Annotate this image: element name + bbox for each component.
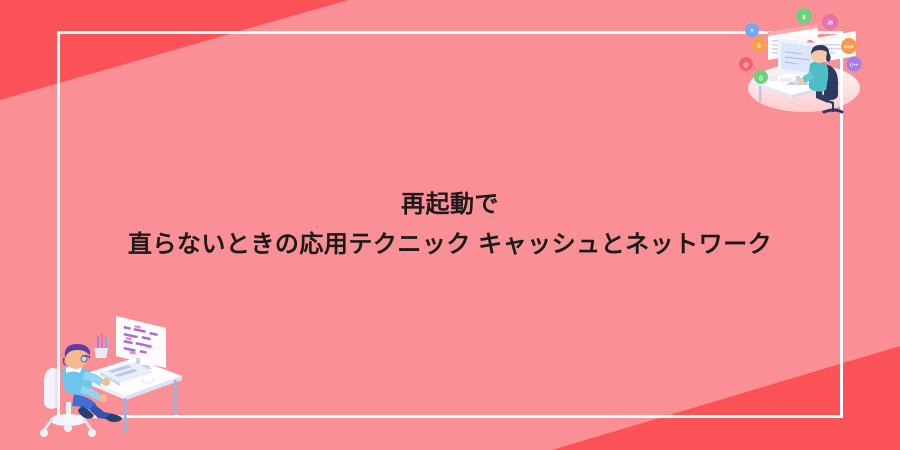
badge-paren: () — [754, 70, 768, 84]
developer-at-desk-with-code-badges-illustration: # S @ () $ JS PHP C++ — [732, 2, 872, 118]
svg-text:PHP: PHP — [844, 44, 853, 49]
svg-text:(): () — [759, 75, 763, 81]
code-monitor — [116, 316, 166, 369]
developer-at-desk-with-code-monitor-illustration — [38, 302, 188, 442]
badge-js: JS — [822, 14, 838, 30]
thumbnail-canvas: 再起動で 直らないときの応用テクニック キャッシュとネットワーク — [0, 0, 900, 450]
svg-text:$: $ — [802, 15, 805, 21]
svg-text:S: S — [757, 44, 761, 50]
pencil-cup — [94, 333, 108, 358]
badge-php: PHP — [841, 38, 857, 54]
badge-at: @ — [739, 57, 753, 71]
badge-s: S — [752, 38, 767, 53]
badge-hash: # — [745, 23, 759, 37]
svg-text:C++: C++ — [850, 62, 859, 67]
badge-cpp: C++ — [847, 57, 862, 72]
page-title-line-1: 再起動で — [401, 185, 499, 225]
badge-dollar: $ — [796, 8, 812, 24]
svg-text:JS: JS — [827, 21, 834, 27]
svg-text:#: # — [750, 28, 753, 34]
page-title-line-2: 直らないときの応用テクニック キャッシュとネットワーク — [128, 225, 772, 265]
svg-text:@: @ — [743, 62, 749, 68]
